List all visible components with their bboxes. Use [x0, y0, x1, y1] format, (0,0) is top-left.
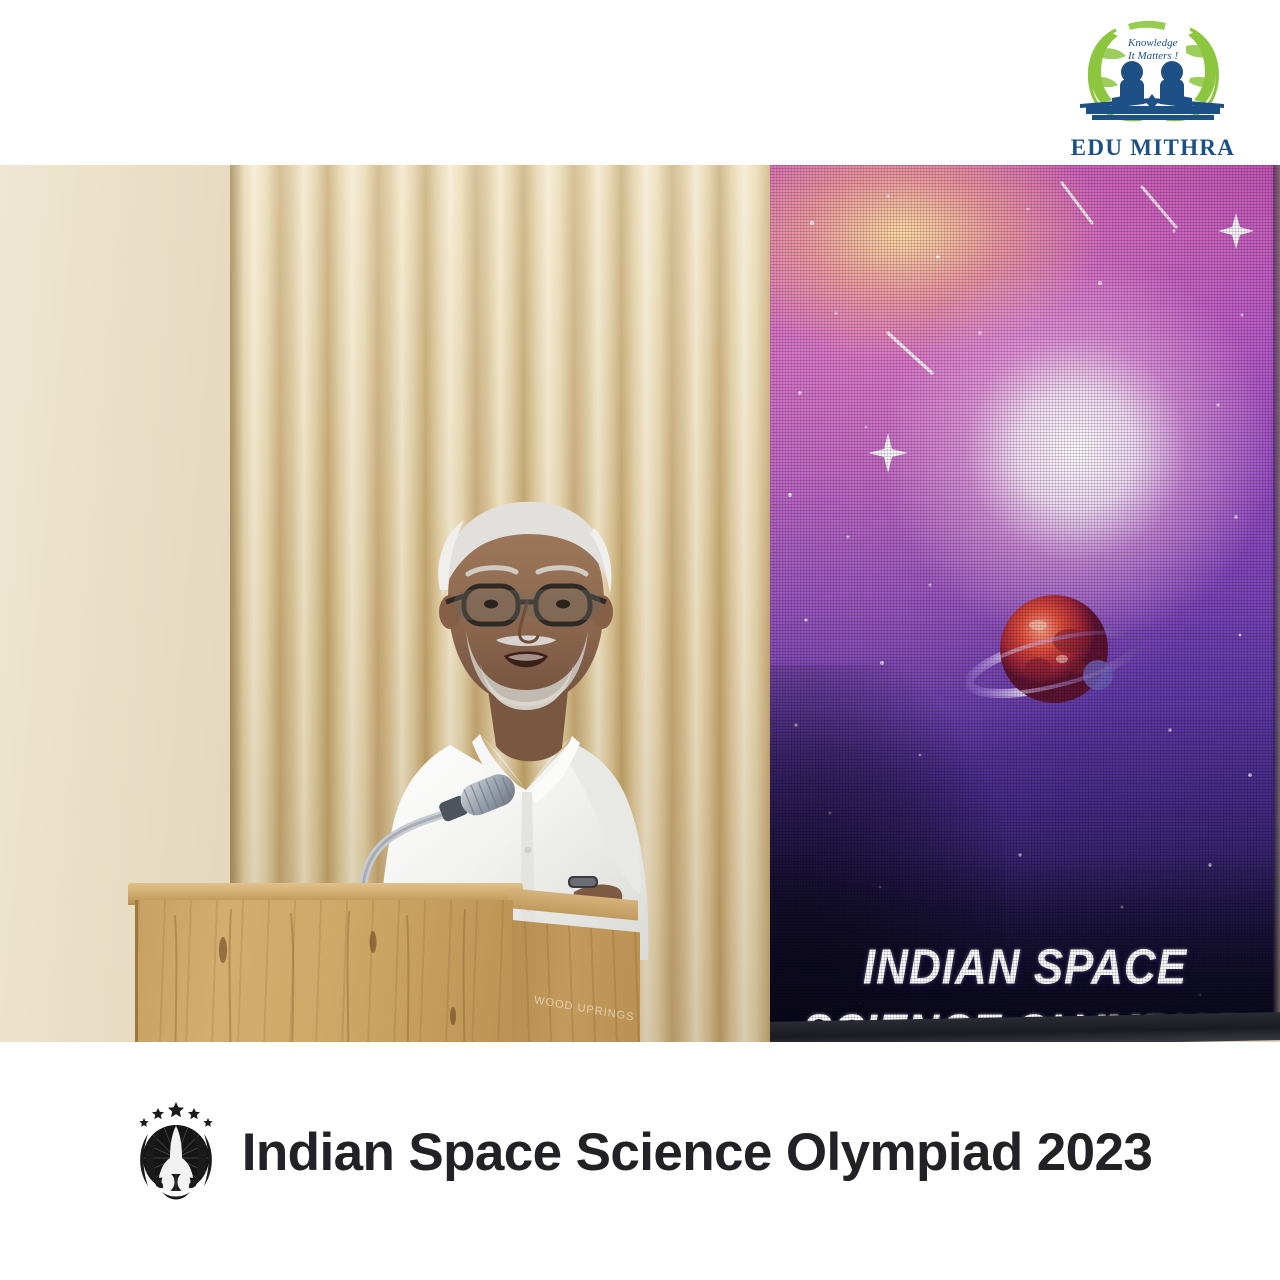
led-screen-frame [1273, 165, 1280, 1027]
tagline: Knowledge It Matters ! [1127, 37, 1178, 62]
footer-band: Indian Space Science Olympiad 2023 www.s… [0, 1042, 1280, 1280]
tagline-line-2: It Matters ! [1127, 50, 1178, 62]
edu-mithra-logo: Knowledge It Matters ! EDU MITHRA [1068, 16, 1238, 161]
footer-title: Indian Space Science Olympiad 2023 [242, 1126, 1152, 1179]
event-photo: INDIAN SPACE SCIENCE OLYMPIAD 2023 [0, 165, 1280, 1042]
banner-headline-line-1: INDIAN SPACE [770, 940, 1280, 996]
podium-side-panel [512, 920, 640, 1042]
footer-title-row: Indian Space Science Olympiad 2023 [0, 1100, 1280, 1204]
podium-front-panel [135, 900, 513, 1042]
led-display-screen: INDIAN SPACE SCIENCE OLYMPIAD 2023 [770, 165, 1280, 1027]
edu-mithra-wordmark: EDU MITHRA [1068, 136, 1238, 159]
tagline-line-1: Knowledge [1127, 37, 1178, 49]
globe-icon: Knowledge It Matters ! [1068, 16, 1238, 128]
sparkle-star [868, 213, 1254, 473]
space-shuttle-emblem-icon [128, 1100, 224, 1204]
header-band: Knowledge It Matters ! EDU MITHRA [0, 0, 1280, 165]
